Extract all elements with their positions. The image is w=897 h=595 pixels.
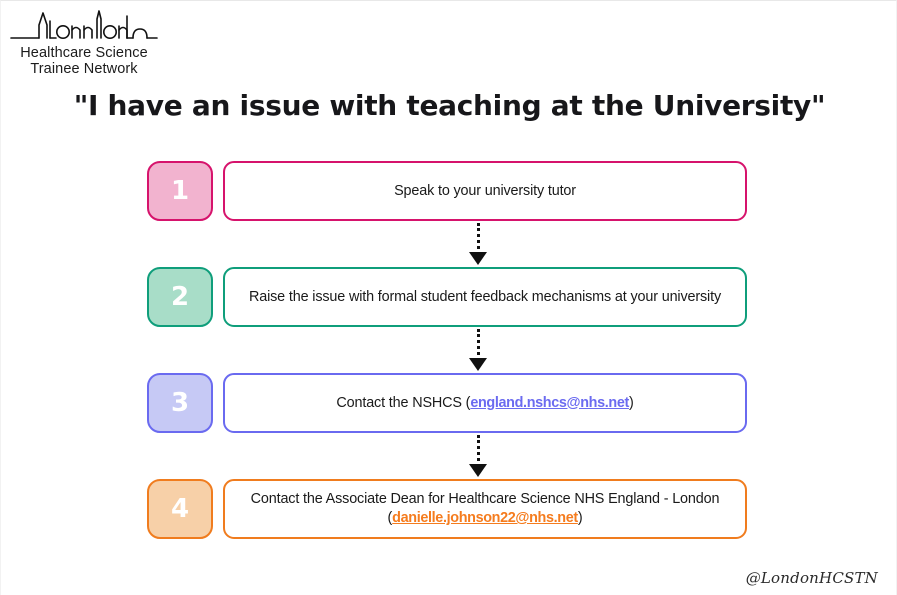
step-text-4: Contact the Associate Dean for Healthcar…: [234, 490, 736, 528]
connector-dotted-line: [477, 435, 480, 467]
step-text-before-2: Raise the issue with formal student feed…: [249, 289, 721, 305]
step-number-1: 1: [171, 178, 189, 204]
step-number-badge-2: 2: [147, 267, 213, 327]
flow-step-4: 4 Contact the Associate Dean for Healthc…: [147, 479, 747, 539]
step-box-2: Raise the issue with formal student feed…: [223, 267, 747, 327]
page-title: "I have an issue with teaching at the Un…: [1, 89, 897, 122]
step-text-after-4: ): [578, 510, 583, 526]
slide-canvas: Healthcare Science Trainee Network "I ha…: [0, 0, 897, 595]
london-skyline-wordmark-icon: [9, 7, 159, 45]
arrow-down-icon: [469, 252, 487, 265]
connector-dotted-line: [477, 223, 480, 255]
connector-1-to-2: [147, 221, 747, 267]
spacer: [213, 267, 223, 327]
arrow-down-icon: [469, 464, 487, 477]
email-link-3[interactable]: england.nshcs@nhs.net: [470, 395, 629, 411]
connector-dotted-line: [477, 329, 480, 361]
escalation-flow: 1 Speak to your university tutor 2 Raise…: [147, 161, 747, 539]
spacer: [213, 373, 223, 433]
connector-2-to-3: [147, 327, 747, 373]
step-number-badge-3: 3: [147, 373, 213, 433]
step-box-1: Speak to your university tutor: [223, 161, 747, 221]
step-text-2: Raise the issue with formal student feed…: [249, 288, 721, 307]
london-hcstn-logo: Healthcare Science Trainee Network: [9, 7, 159, 75]
social-handle: @LondonHCSTN: [746, 569, 878, 587]
step-text-1: Speak to your university tutor: [394, 182, 576, 201]
spacer: [213, 479, 223, 539]
flow-step-1: 1 Speak to your university tutor: [147, 161, 747, 221]
step-number-2: 2: [171, 284, 189, 310]
step-number-badge-4: 4: [147, 479, 213, 539]
step-box-4: Contact the Associate Dean for Healthcar…: [223, 479, 747, 539]
email-link-4[interactable]: danielle.johnson22@nhs.net: [392, 510, 578, 526]
step-number-4: 4: [171, 496, 189, 522]
step-number-3: 3: [171, 390, 189, 416]
step-text-3: Contact the NSHCS (england.nshcs@nhs.net…: [336, 394, 633, 413]
step-box-3: Contact the NSHCS (england.nshcs@nhs.net…: [223, 373, 747, 433]
step-number-badge-1: 1: [147, 161, 213, 221]
step-text-before-3: Contact the NSHCS (: [336, 395, 470, 411]
step-text-after-3: ): [629, 395, 634, 411]
flow-step-2: 2 Raise the issue with formal student fe…: [147, 267, 747, 327]
step-text-before-1: Speak to your university tutor: [394, 183, 576, 199]
spacer: [213, 161, 223, 221]
connector-3-to-4: [147, 433, 747, 479]
logo-line-1: Healthcare Science: [9, 45, 159, 61]
flow-step-3: 3 Contact the NSHCS (england.nshcs@nhs.n…: [147, 373, 747, 433]
arrow-down-icon: [469, 358, 487, 371]
logo-line-2: Trainee Network: [9, 61, 159, 77]
